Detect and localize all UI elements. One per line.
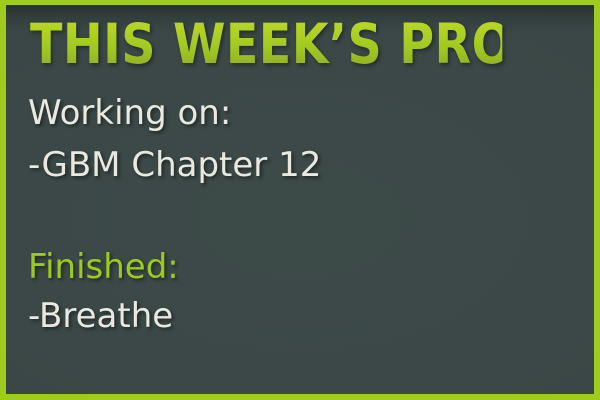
card-panel: THIS WEEK’S PROJECTS Working on: -GBM Ch… <box>6 5 594 394</box>
projects-card: THIS WEEK’S PROJECTS Working on: -GBM Ch… <box>0 0 600 400</box>
finished-label: Finished: <box>28 247 179 287</box>
finished-item: -Breathe <box>28 296 173 336</box>
working-on-label: Working on: <box>28 93 231 133</box>
working-on-item: -GBM Chapter 12 <box>28 145 321 185</box>
page-title: THIS WEEK’S PROJECTS <box>30 14 502 74</box>
card-content: THIS WEEK’S PROJECTS Working on: -GBM Ch… <box>6 5 594 394</box>
